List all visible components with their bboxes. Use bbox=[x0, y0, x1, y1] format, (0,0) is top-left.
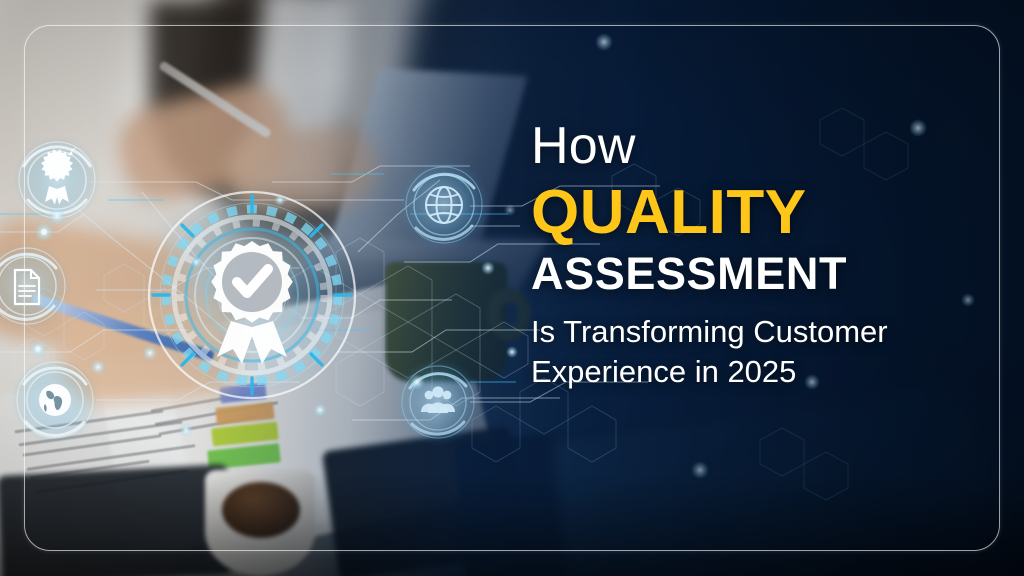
hero-banner: How QUALITY ASSESSMENT Is Transforming C… bbox=[0, 0, 1024, 576]
decorative-frame-border bbox=[24, 25, 1000, 551]
